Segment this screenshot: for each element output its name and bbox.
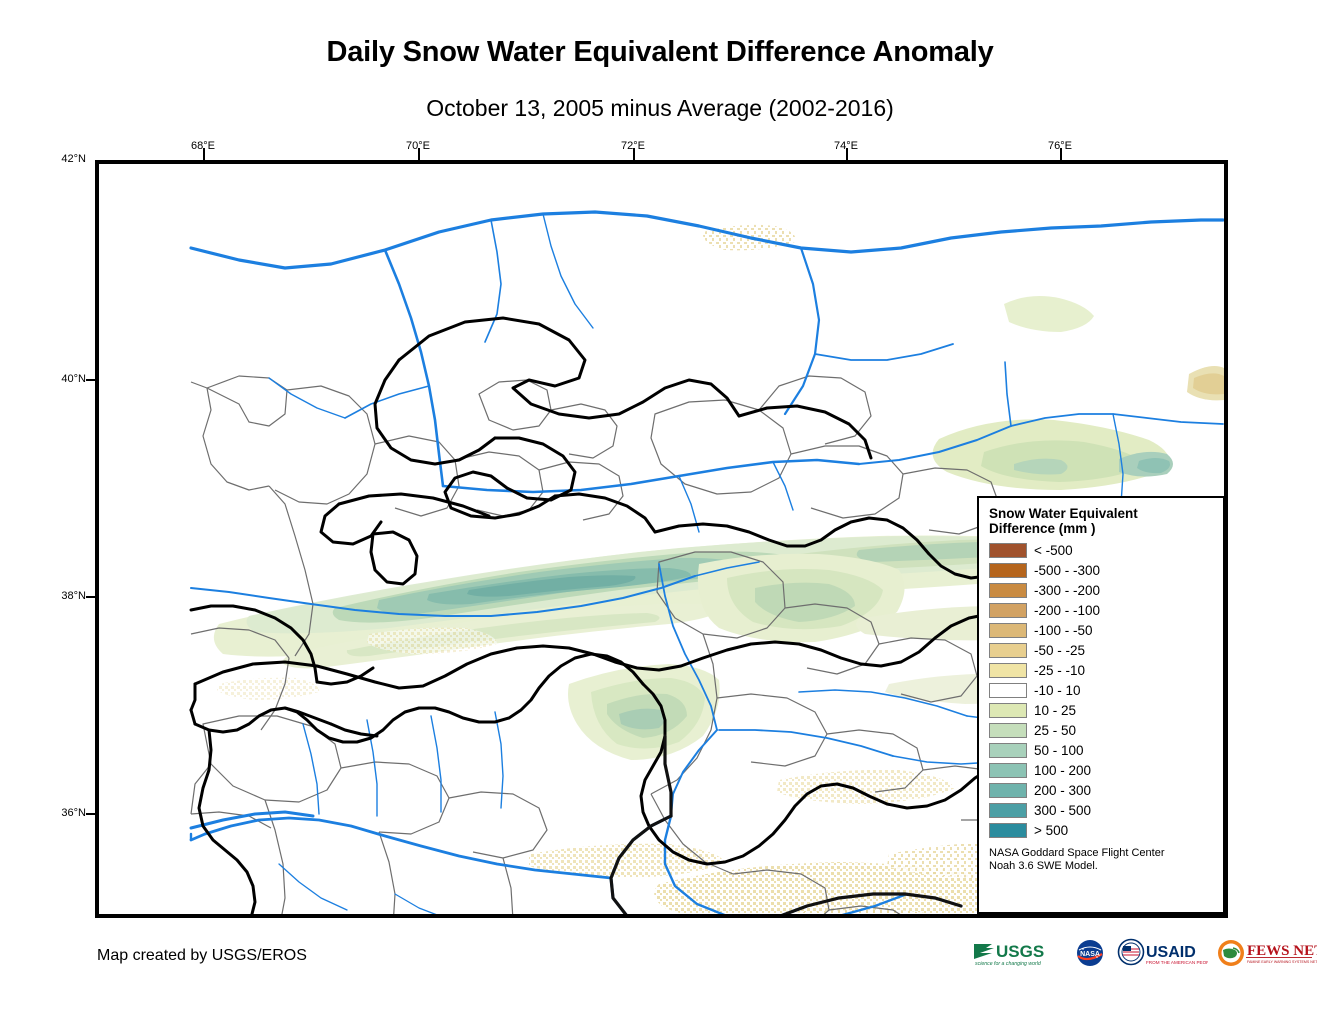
legend-label: -300 - -200 [1034, 583, 1100, 598]
legend-swatch [989, 543, 1027, 558]
legend-swatch [989, 683, 1027, 698]
longitude-tick-mark [418, 148, 420, 160]
legend-label: -500 - -300 [1034, 563, 1100, 578]
longitude-tick-mark [1060, 148, 1062, 160]
legend-swatch [989, 723, 1027, 738]
legend-class-list: < -500-500 - -300-300 - -200-200 - -100-… [989, 540, 1215, 840]
legend-label: -10 - 10 [1034, 683, 1081, 698]
legend-label: 50 - 100 [1034, 743, 1084, 758]
latitude-tick-label: 40°N [26, 373, 86, 385]
legend-label: < -500 [1034, 543, 1073, 558]
legend-row[interactable]: -50 - -25 [989, 640, 1215, 660]
legend-swatch [989, 603, 1027, 618]
legend-swatch [989, 783, 1027, 798]
svg-text:USGS: USGS [996, 942, 1044, 961]
legend-row[interactable]: 300 - 500 [989, 800, 1215, 820]
legend-swatch [989, 743, 1027, 758]
legend-row[interactable]: 50 - 100 [989, 740, 1215, 760]
legend-swatch [989, 663, 1027, 678]
legend-row[interactable]: < -500 [989, 540, 1215, 560]
svg-text:USAID: USAID [1146, 944, 1196, 961]
nasa-logo[interactable]: NASA [1073, 936, 1107, 970]
legend-row[interactable]: -10 - 10 [989, 680, 1215, 700]
legend-swatch [989, 583, 1027, 598]
svg-text:FROM THE AMERICAN PEOPLE: FROM THE AMERICAN PEOPLE [1146, 960, 1208, 965]
svg-text:science for a changing world: science for a changing world [975, 961, 1042, 967]
legend-row[interactable]: 200 - 300 [989, 780, 1215, 800]
legend-label: > 500 [1034, 823, 1068, 838]
legend-row[interactable]: -100 - -50 [989, 620, 1215, 640]
fewsnet-logo[interactable]: FEWS NET FAMINE EARLY WARNING SYSTEMS NE… [1217, 936, 1317, 970]
legend-title: Snow Water Equivalent Difference (mm ) [989, 506, 1215, 536]
legend-swatch [989, 623, 1027, 638]
map-credit: Map created by USGS/EROS [97, 947, 307, 965]
legend-row[interactable]: 10 - 25 [989, 700, 1215, 720]
latitude-tick-label: 36°N [26, 807, 86, 819]
legend-label: 25 - 50 [1034, 723, 1076, 738]
usgs-logo[interactable]: USGS science for a changing world [972, 936, 1064, 970]
legend-swatch [989, 803, 1027, 818]
usaid-logo[interactable]: USAID FROM THE AMERICAN PEOPLE [1116, 936, 1208, 970]
legend-label: -100 - -50 [1034, 623, 1093, 638]
page-subtitle: October 13, 2005 minus Average (2002-201… [0, 95, 1320, 122]
legend-swatch [989, 563, 1027, 578]
legend-swatch [989, 643, 1027, 658]
longitude-tick-mark [633, 148, 635, 160]
longitude-tick-mark [846, 148, 848, 160]
legend-label: 10 - 25 [1034, 703, 1076, 718]
legend-label: -25 - -10 [1034, 663, 1085, 678]
legend-row[interactable]: 100 - 200 [989, 760, 1215, 780]
legend-row[interactable]: > 500 [989, 820, 1215, 840]
svg-text:FAMINE EARLY WARNING SYSTEMS N: FAMINE EARLY WARNING SYSTEMS NETWORK [1247, 960, 1317, 964]
legend-row[interactable]: -25 - -10 [989, 660, 1215, 680]
latitude-tick-label: 42°N [26, 153, 86, 165]
legend-swatch [989, 763, 1027, 778]
legend-source-note: NASA Goddard Space Flight Center Noah 3.… [989, 847, 1215, 873]
legend-label: -50 - -25 [1034, 643, 1085, 658]
latitude-tick-label: 38°N [26, 590, 86, 602]
legend-row[interactable]: -500 - -300 [989, 560, 1215, 580]
map-page: Daily Snow Water Equivalent Difference A… [0, 0, 1320, 1020]
legend-swatch [989, 823, 1027, 838]
legend-label: 100 - 200 [1034, 763, 1091, 778]
legend-row[interactable]: -300 - -200 [989, 580, 1215, 600]
legend-label: 200 - 300 [1034, 783, 1091, 798]
longitude-tick-mark [203, 148, 205, 160]
legend-swatch [989, 703, 1027, 718]
legend-row[interactable]: 25 - 50 [989, 720, 1215, 740]
map-legend[interactable]: Snow Water Equivalent Difference (mm ) <… [977, 496, 1225, 914]
legend-label: -200 - -100 [1034, 603, 1100, 618]
legend-label: 300 - 500 [1034, 803, 1091, 818]
page-title: Daily Snow Water Equivalent Difference A… [0, 36, 1320, 69]
agency-logos: USGS science for a changing world NASA [972, 934, 1317, 972]
svg-text:FEWS NET: FEWS NET [1247, 943, 1317, 959]
legend-row[interactable]: -200 - -100 [989, 600, 1215, 620]
